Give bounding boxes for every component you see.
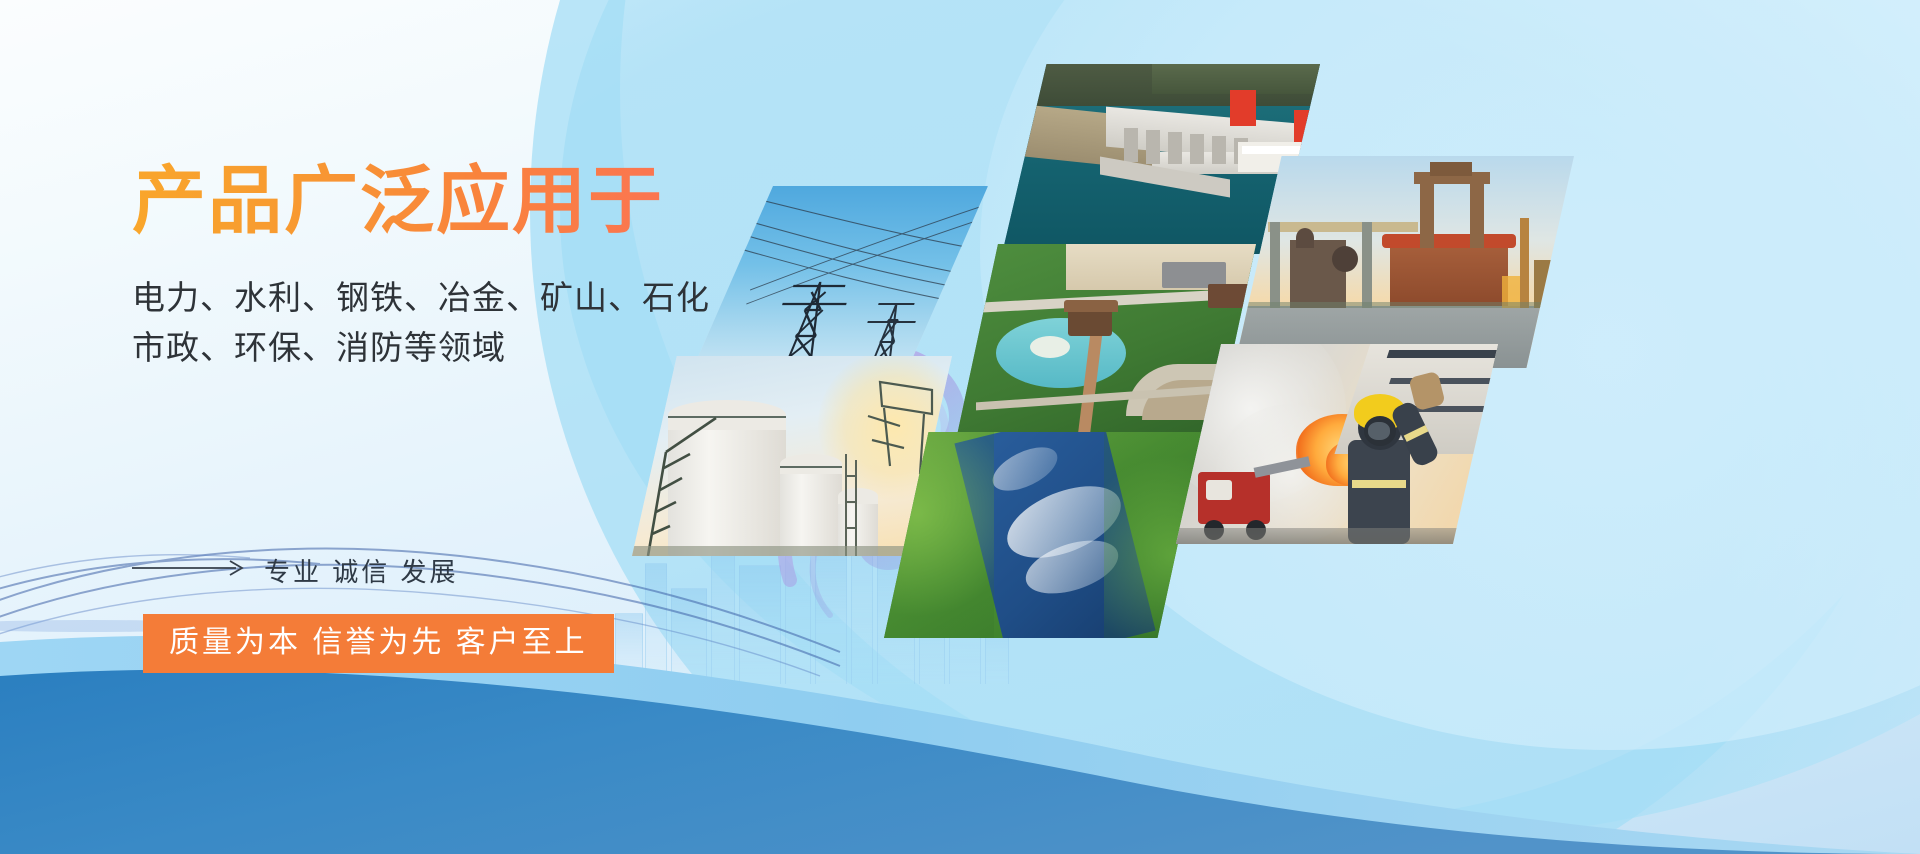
slogan-ribbon: 质量为本 信誉为先 客户至上 xyxy=(143,614,614,673)
page-title: 产品广泛应用于 xyxy=(132,160,852,243)
photo-firefighter-training xyxy=(1176,344,1498,544)
long-arrow-right-icon xyxy=(132,559,250,582)
tagline-text: 专业 诚信 发展 xyxy=(264,552,458,589)
photo-steel-mill-blast-furnace xyxy=(1234,156,1574,368)
subtitle: 电力、水利、钢铁、冶金、矿山、石化 市政、环保、消防等领域 xyxy=(132,273,852,373)
banner-copy: 产品广泛应用于 电力、水利、钢铁、冶金、矿山、石化 市政、环保、消防等领域 xyxy=(132,160,852,373)
promo-banner: 产品广泛应用于 电力、水利、钢铁、冶金、矿山、石化 市政、环保、消防等领域 专业… xyxy=(0,0,1920,854)
tagline-row: 专业 诚信 发展 xyxy=(132,552,458,589)
subtitle-line-2: 市政、环保、消防等领域 xyxy=(132,323,852,373)
subtitle-line-1: 电力、水利、钢铁、冶金、矿山、石化 xyxy=(132,273,852,323)
